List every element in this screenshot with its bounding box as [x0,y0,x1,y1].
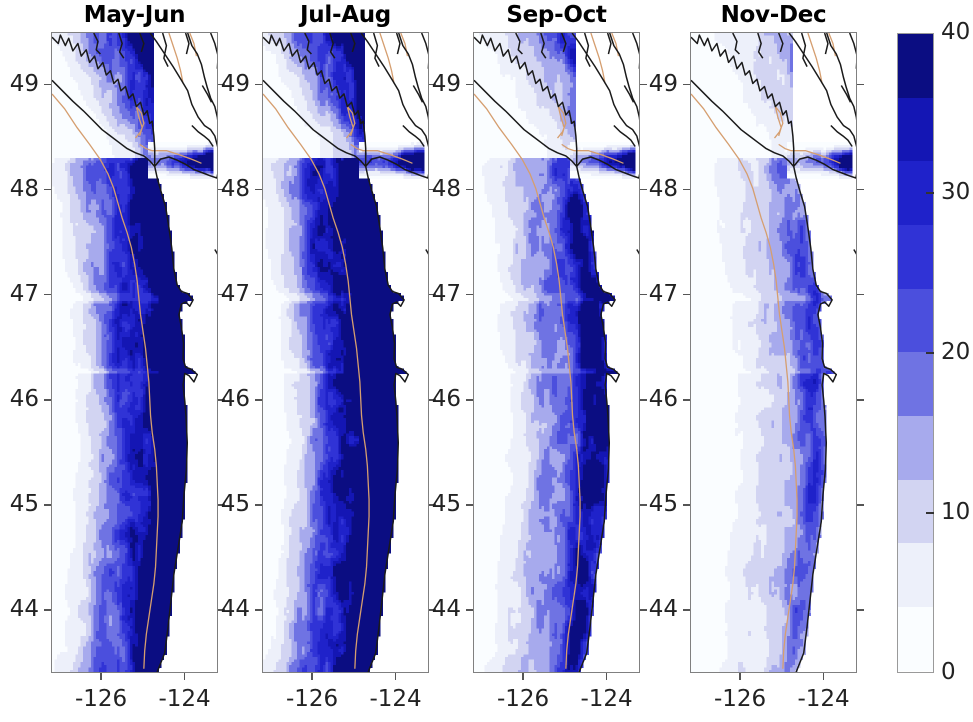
ytick-label-0-5: 49 [0,73,39,96]
ytick-label-2-3: 47 [417,283,461,306]
ytick-label-0-2: 46 [0,388,39,411]
xtick-1-0 [311,673,313,680]
colorbar-band-5 [898,289,933,353]
ytick-1-5 [255,84,262,86]
colorbar-tick-2 [926,352,934,354]
colorbar-label-0: 0 [941,661,956,684]
ytick-label-1-4: 48 [206,178,250,201]
ytick-label-0-3: 47 [0,283,39,306]
ytick-1-3 [255,294,262,296]
colorbar-band-4 [898,352,933,416]
ytick-label-3-4: 48 [634,178,678,201]
ytick-2-3 [466,294,473,296]
ytick-label-2-5: 49 [417,73,461,96]
ytick-0-5 [44,84,51,86]
ytick-label-0-0: 44 [0,598,39,621]
xtick-3-1 [823,673,825,680]
panel-title-1: Jul-Aug [242,2,449,28]
colorbar-band-9 [898,34,933,98]
ytick-2-4 [466,189,473,191]
ytick-1-2 [255,399,262,401]
colorbar-label-4: 40 [941,21,970,44]
colorbar-tick-1 [926,512,934,514]
ytick-3-4 [683,189,690,191]
xtick-2-1 [606,673,608,680]
map-panel-2[interactable] [473,32,640,673]
ytick-right-3-5 [857,84,864,86]
colorbar-label-3: 30 [941,181,970,204]
ytick-label-0-4: 48 [0,178,39,201]
ytick-3-2 [683,399,690,401]
ytick-1-0 [255,609,262,611]
ytick-1-1 [255,504,262,506]
xtick-0-1 [184,673,186,680]
ytick-0-0 [44,609,51,611]
panel-title-0: May-Jun [31,2,238,28]
ytick-3-0 [683,609,690,611]
ytick-label-3-5: 49 [634,73,678,96]
map-panel-1[interactable] [262,32,429,673]
xtick-label-1-1: -124 [351,688,441,711]
ytick-label-3-0: 44 [634,598,678,621]
colorbar-tick-3 [926,192,934,194]
ytick-right-3-4 [857,189,864,191]
seasonal-maps-figure: May-Jun444546474849-126-124Jul-Aug444546… [0,0,973,722]
ytick-label-2-0: 44 [417,598,461,621]
xtick-label-0-0: -126 [56,688,146,711]
ytick-2-5 [466,84,473,86]
ytick-label-1-2: 46 [206,388,250,411]
xtick-3-0 [739,673,741,680]
colorbar-band-8 [898,98,933,162]
colorbar-band-1 [898,543,933,607]
ytick-3-1 [683,504,690,506]
ytick-label-3-3: 47 [634,283,678,306]
ytick-2-1 [466,504,473,506]
xtick-2-0 [522,673,524,680]
xtick-label-2-1: -124 [562,688,652,711]
ytick-right-3-0 [857,609,864,611]
colorbar-band-3 [898,416,933,480]
ytick-1-4 [255,189,262,191]
ytick-3-3 [683,294,690,296]
ytick-0-1 [44,504,51,506]
colorbar-label-2: 20 [941,341,970,364]
map-panel-3[interactable] [690,32,857,673]
ytick-label-1-0: 44 [206,598,250,621]
ytick-2-0 [466,609,473,611]
colorbar-label-1: 10 [941,501,970,524]
ytick-0-4 [44,189,51,191]
ytick-label-3-2: 46 [634,388,678,411]
ytick-right-3-2 [857,399,864,401]
colorbar-band-0 [898,607,933,671]
xtick-1-1 [395,673,397,680]
xtick-0-0 [100,673,102,680]
ytick-right-3-1 [857,504,864,506]
ytick-label-1-3: 47 [206,283,250,306]
colorbar-band-6 [898,225,933,289]
panel-title-3: Nov-Dec [670,2,877,28]
ytick-2-2 [466,399,473,401]
ytick-3-5 [683,84,690,86]
ytick-label-0-1: 45 [0,493,39,516]
ytick-label-3-1: 45 [634,493,678,516]
xtick-label-3-0: -126 [695,688,785,711]
xtick-label-0-1: -124 [140,688,230,711]
xtick-label-1-0: -126 [267,688,357,711]
ytick-label-1-1: 45 [206,493,250,516]
map-panel-0[interactable] [51,32,218,673]
ytick-label-2-4: 48 [417,178,461,201]
ytick-label-1-5: 49 [206,73,250,96]
panel-title-2: Sep-Oct [453,2,660,28]
xtick-label-2-0: -126 [478,688,568,711]
ytick-label-2-2: 46 [417,388,461,411]
ytick-right-3-3 [857,294,864,296]
ytick-0-3 [44,294,51,296]
ytick-label-2-1: 45 [417,493,461,516]
ytick-0-2 [44,399,51,401]
xtick-label-3-1: -124 [779,688,869,711]
